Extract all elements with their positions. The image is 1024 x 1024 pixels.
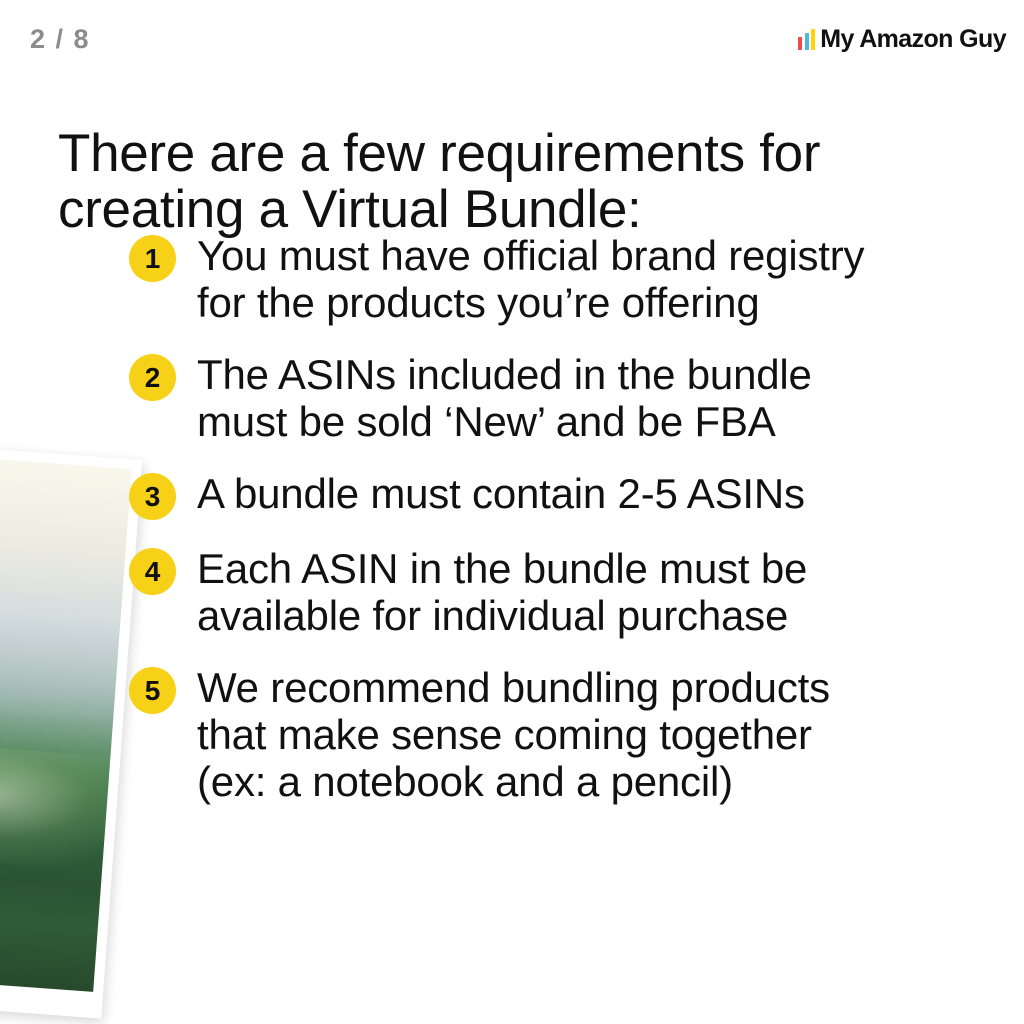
- photo-image-mountain-valley: [0, 456, 132, 992]
- bar-chart-icon: [798, 29, 815, 50]
- list-item-text: Each ASIN in the bundle must be availabl…: [197, 545, 807, 639]
- polaroid-photo: [0, 445, 142, 1018]
- page-title: There are a few requirements for creatin…: [58, 126, 888, 238]
- logo-bar-yellow: [811, 29, 815, 50]
- list-item-text: A bundle must contain 2-5 ASINs: [197, 470, 805, 517]
- list-item-number-badge: 3: [129, 473, 176, 520]
- brand-name: My Amazon Guy: [820, 27, 1006, 52]
- list-item-text: We recommend bundling products that make…: [197, 664, 830, 805]
- list-item: 5 We recommend bundling products that ma…: [129, 664, 959, 805]
- list-item-text: The ASINs included in the bundle must be…: [197, 351, 812, 445]
- list-item-number-badge: 4: [129, 548, 176, 595]
- page-indicator: 2 / 8: [30, 24, 90, 55]
- list-item-text: You must have official brand registry fo…: [197, 232, 864, 326]
- list-item-number-badge: 5: [129, 667, 176, 714]
- logo-bar-blue: [805, 33, 809, 50]
- brand-logo: My Amazon Guy: [798, 24, 1006, 54]
- list-item: 1 You must have official brand registry …: [129, 232, 959, 326]
- logo-bar-red: [798, 37, 802, 50]
- slide-canvas: 2 / 8 My Amazon Guy There are a few requ…: [0, 0, 1024, 1024]
- list-item: 3 A bundle must contain 2-5 ASINs: [129, 470, 959, 520]
- requirements-list: 1 You must have official brand registry …: [129, 232, 959, 830]
- list-item-number-badge: 1: [129, 235, 176, 282]
- list-item: 4 Each ASIN in the bundle must be availa…: [129, 545, 959, 639]
- list-item: 2 The ASINs included in the bundle must …: [129, 351, 959, 445]
- list-item-number-badge: 2: [129, 354, 176, 401]
